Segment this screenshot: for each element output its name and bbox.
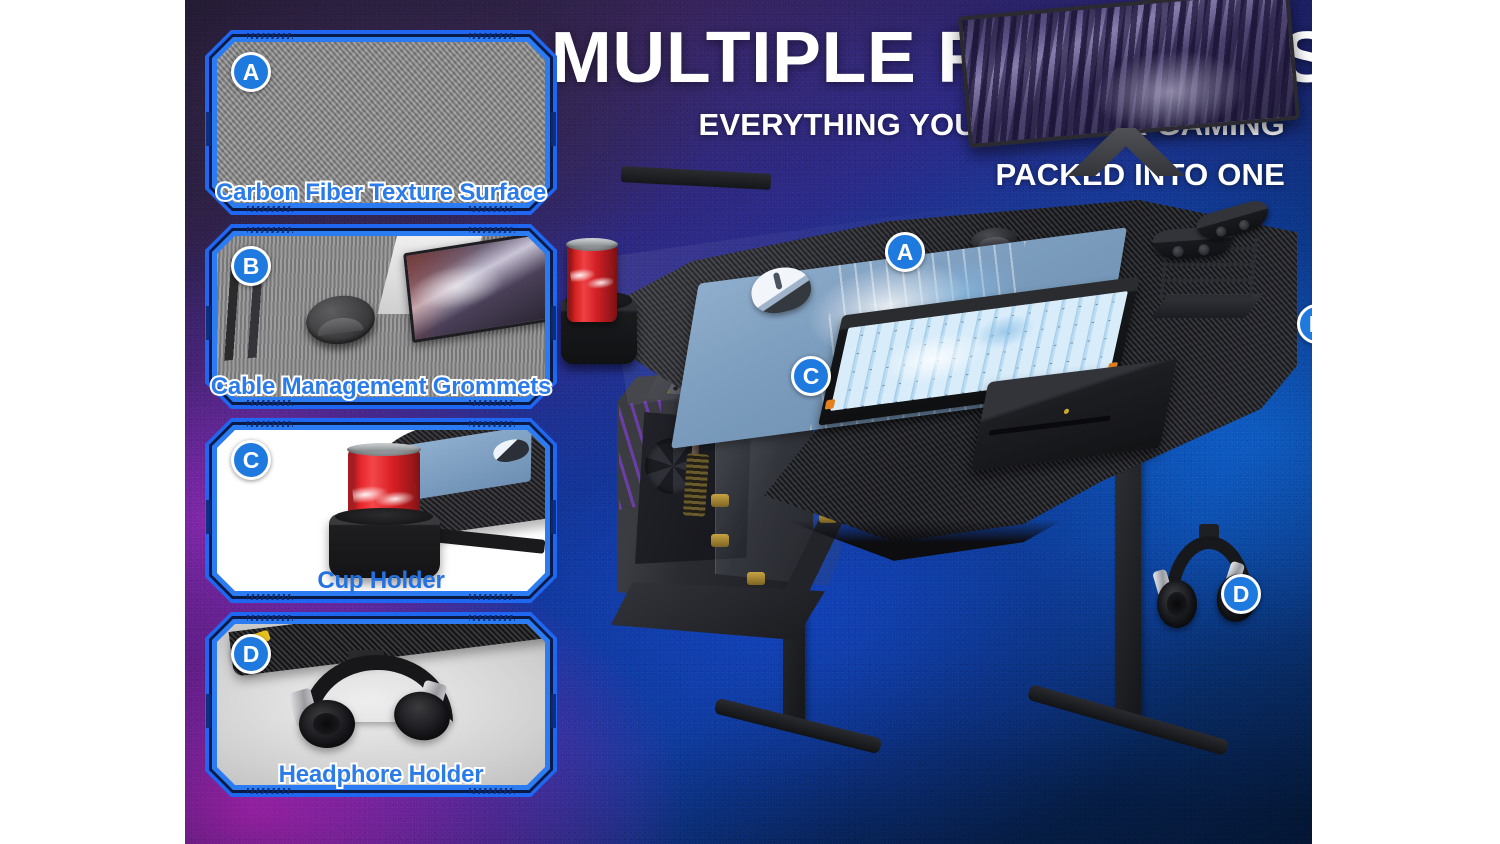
heatsink <box>683 453 709 516</box>
monitor-screen-artwork <box>407 236 545 340</box>
soda-can <box>567 244 617 322</box>
frame-side-accent-right <box>551 112 556 146</box>
brass-accent <box>711 534 729 547</box>
controller-stand <box>1147 208 1279 318</box>
callout-badge-a: A <box>885 232 925 272</box>
card-caption-b: Cable Management Grommets <box>205 373 557 401</box>
card-caption-a: Carbon Fiber Texture Surface <box>205 179 557 207</box>
frame-side-accent-left <box>206 306 211 340</box>
analog-stick <box>1238 219 1251 232</box>
card-badge-b: B <box>231 246 271 286</box>
cup-holder-mount-arm <box>621 166 772 190</box>
frame-tick-marks-top-right <box>469 615 515 621</box>
headphone-earcup-left <box>299 700 355 748</box>
analog-stick <box>1172 246 1184 258</box>
infographic-stage: MULTIPLE FEATURES EVERYTHING YOU NEED FO… <box>0 0 1500 844</box>
feature-card-a[interactable]: A Carbon Fiber Texture Surface <box>205 30 557 215</box>
frame-side-accent-left <box>206 112 211 146</box>
frame-tick-marks-top-right <box>469 227 515 233</box>
infographic-banner: MULTIPLE FEATURES EVERYTHING YOU NEED FO… <box>185 0 1312 844</box>
console-indicator-led <box>1063 409 1069 415</box>
monitor-wallpaper <box>962 0 1296 144</box>
product-scene: A B C D <box>555 150 1312 844</box>
headphone-earcup-left <box>1157 580 1197 628</box>
callout-badge-d: D <box>1221 574 1261 614</box>
brass-accent <box>711 494 729 507</box>
frame-tick-marks-top-right <box>469 421 515 427</box>
card-badge-a: A <box>231 52 271 92</box>
tower-base <box>611 582 825 640</box>
analog-stick <box>1198 244 1210 256</box>
frame-tick-marks-top-left <box>247 421 293 427</box>
frame-tick-marks-top-left <box>247 227 293 233</box>
brass-accent <box>747 572 765 585</box>
feature-card-b[interactable]: B Cable Management Grommets <box>205 224 557 409</box>
soda-can-label <box>569 262 614 298</box>
soda-can-lid <box>566 238 618 251</box>
feature-card-list: A Carbon Fiber Texture Surface <box>205 30 557 806</box>
callout-badge-b: B <box>1297 304 1312 344</box>
frame-side-accent-left <box>206 694 211 728</box>
feature-card-d[interactable]: D Headphore Holder <box>205 612 557 797</box>
soda-can-lid <box>347 443 421 456</box>
feature-card-c[interactable]: C Cup Holder <box>205 418 557 603</box>
frame-tick-marks-top-left <box>247 33 293 39</box>
card-caption-c: Cup Holder <box>205 567 557 595</box>
card-caption-d: Headphore Holder <box>205 761 557 789</box>
frame-tick-marks-top-left <box>247 615 293 621</box>
card-badge-d: D <box>231 634 271 674</box>
card-badge-c: C <box>231 440 271 480</box>
callout-badge-c: C <box>791 356 831 396</box>
frame-tick-marks-top-right <box>469 33 515 39</box>
frame-side-accent-left <box>206 500 211 534</box>
leg-column <box>1115 450 1141 720</box>
analog-stick <box>1215 225 1228 238</box>
